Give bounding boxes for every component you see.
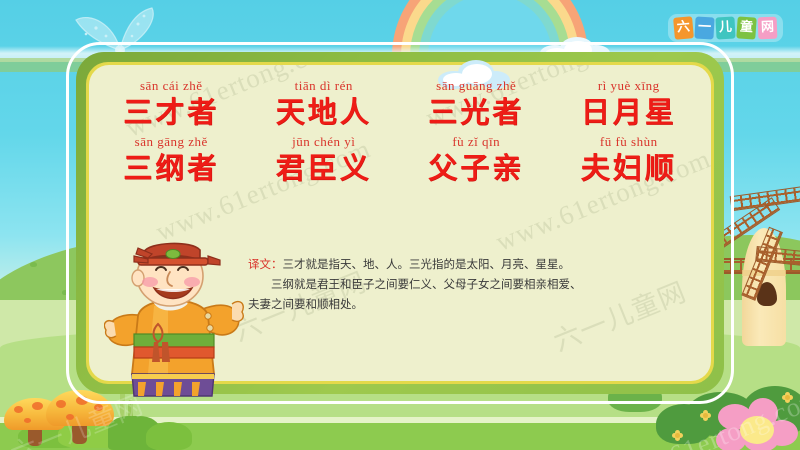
cartoon-character bbox=[104, 238, 244, 408]
verse-cell: fù zǐ qīn 父子亲 bbox=[406, 134, 546, 184]
verse-cell: sān cái zhě 三才者 bbox=[101, 78, 241, 128]
verse-hanzi: 父子亲 bbox=[406, 152, 546, 184]
site-logo[interactable]: 六 一 儿 童 网 bbox=[668, 14, 783, 42]
verse-cell: tiān dì rén 天地人 bbox=[254, 78, 394, 128]
translation-line-1: 译文：三才就是指天、地、人。三光指的是太阳、月亮、星星。 bbox=[248, 255, 688, 275]
verse-pinyin: fù zǐ qīn bbox=[406, 134, 546, 150]
verse-pinyin: tiān dì rén bbox=[254, 78, 394, 94]
logo-block-4: 网 bbox=[758, 17, 778, 40]
verse-cell: sān guāng zhě 三光者 bbox=[406, 78, 546, 128]
verse-pinyin: jūn chén yì bbox=[254, 134, 394, 150]
translation-block: 译文：三才就是指天、地、人。三光指的是太阳、月亮、星星。 三纲就是君王和臣子之间… bbox=[248, 255, 688, 314]
verse-cell: jūn chén yì 君臣义 bbox=[254, 134, 394, 184]
verse-pinyin: sān gāng zhě bbox=[101, 134, 241, 150]
logo-block-1: 一 bbox=[694, 17, 714, 40]
translation-text-1: 三才就是指天、地、人。三光指的是太阳、月亮、星星。 bbox=[283, 257, 571, 271]
verse-hanzi: 日月星 bbox=[559, 96, 699, 128]
verse-hanzi: 天地人 bbox=[254, 96, 394, 128]
tiny-flower bbox=[782, 392, 793, 403]
hill-texture bbox=[30, 262, 37, 267]
verse-hanzi: 君臣义 bbox=[254, 152, 394, 184]
verse-pinyin: rì yuè xīng bbox=[559, 78, 699, 94]
verse-hanzi: 三纲者 bbox=[101, 152, 241, 184]
verse-pinyin: sān cái zhě bbox=[101, 78, 241, 94]
verse-cell: rì yuè xīng 日月星 bbox=[559, 78, 699, 128]
logo-block-2: 儿 bbox=[715, 17, 735, 40]
translation-label: 译文： bbox=[248, 257, 283, 271]
slide-canvas: 六 一 儿 童 网 bbox=[0, 0, 800, 450]
verse-pinyin: fū fù shùn bbox=[559, 134, 699, 150]
tiny-flower bbox=[672, 430, 683, 441]
logo-block-0: 六 bbox=[673, 16, 694, 40]
tiny-flower bbox=[700, 410, 711, 421]
translation-line-2: 三纲就是君王和臣子之间要仁义、父母子女之间要相亲相爱、 bbox=[248, 275, 688, 295]
flower-center bbox=[740, 416, 774, 444]
verse-cell: sān gāng zhě 三纲者 bbox=[101, 134, 241, 184]
verse-hanzi: 三才者 bbox=[101, 96, 241, 128]
translation-line-3: 夫妻之间要和顺相处。 bbox=[248, 295, 688, 315]
verse-row: sān gāng zhě 三纲者 jūn chén yì 君臣义 fù zǐ q… bbox=[95, 134, 705, 184]
logo-block-3: 童 bbox=[736, 16, 756, 39]
verse-pinyin: sān guāng zhě bbox=[406, 78, 546, 94]
grass-clump bbox=[146, 422, 192, 450]
verse-hanzi: 夫妇顺 bbox=[559, 152, 699, 184]
verse-row: sān cái zhě 三才者 tiān dì rén 天地人 sān guān… bbox=[95, 78, 705, 128]
verse-hanzi: 三光者 bbox=[406, 96, 546, 128]
verse-block: sān cái zhě 三才者 tiān dì rén 天地人 sān guān… bbox=[95, 78, 705, 191]
verse-cell: fū fù shùn 夫妇顺 bbox=[559, 134, 699, 184]
